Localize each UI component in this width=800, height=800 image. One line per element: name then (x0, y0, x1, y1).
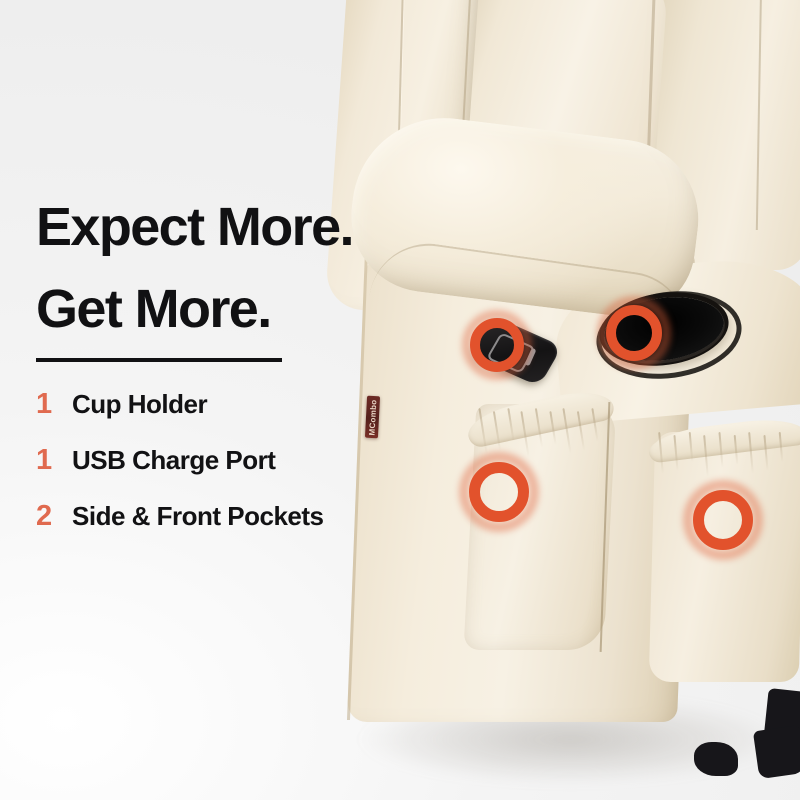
marker-core-ring (606, 305, 662, 361)
feature-row: 1USB Charge Port (36, 444, 376, 500)
feature-label: USB Charge Port (72, 445, 275, 476)
headline-line-2: Get More. (36, 282, 271, 336)
divider-rule (36, 358, 282, 362)
marker-cup-holder (597, 296, 671, 370)
text-panel: Expect More. Get More. 1Cup Holder1USB C… (0, 0, 400, 800)
chair-foot (753, 725, 800, 779)
headline-line-1: Expect More. (36, 200, 353, 254)
marker-core-ring (693, 490, 753, 550)
feature-quantity: 1 (36, 444, 72, 477)
feature-quantity: 1 (36, 388, 72, 421)
chair-foot (694, 742, 738, 776)
marker-usb-charge-port (462, 310, 532, 380)
marker-core-ring (470, 318, 524, 372)
product-feature-image: MCombo Expect More. Get More. 1Cup Holde… (0, 0, 800, 800)
marker-front-pocket (459, 452, 539, 532)
feature-label: Side & Front Pockets (72, 501, 324, 532)
feature-list: 1Cup Holder1USB Charge Port2Side & Front… (36, 388, 376, 556)
feature-row: 2Side & Front Pockets (36, 500, 376, 556)
marker-core-ring (469, 462, 529, 522)
marker-side-pocket (683, 480, 763, 560)
feature-row: 1Cup Holder (36, 388, 376, 444)
feature-quantity: 2 (36, 500, 72, 533)
feature-label: Cup Holder (72, 389, 207, 420)
